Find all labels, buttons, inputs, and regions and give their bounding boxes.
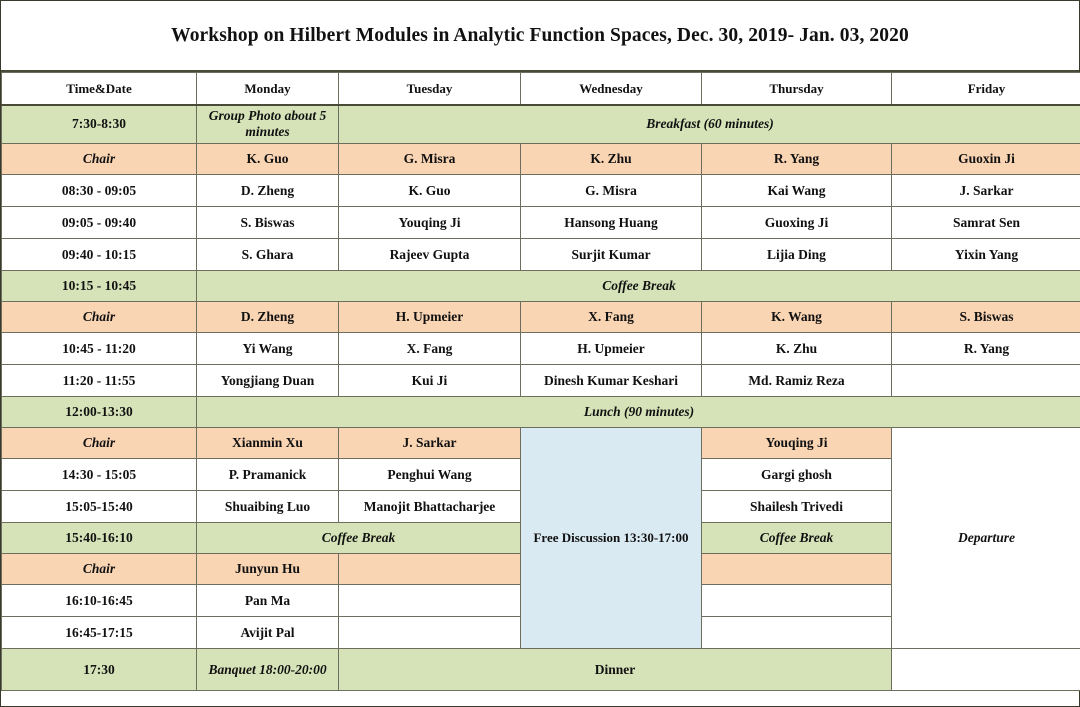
cell-departure: Departure	[892, 428, 1080, 649]
cell-talk2-wednesday: Hansong Huang	[521, 207, 702, 239]
cell-talk7-monday: Shuaibing Luo	[197, 491, 339, 523]
cell-talk8-monday: Pan Ma	[197, 585, 339, 617]
header-time-date: Time&Date	[2, 73, 197, 105]
table-row-lunch: 12:00-13:30 Lunch (90 minutes)	[2, 397, 1080, 428]
cell-coffee-break-2-span: Coffee Break	[197, 523, 521, 554]
cell-time-lunch: 12:00-13:30	[2, 397, 197, 428]
cell-chair-label-1: Chair	[2, 144, 197, 175]
cell-talk5-friday	[892, 365, 1080, 397]
header-monday: Monday	[197, 73, 339, 105]
cell-time-break1: 10:15 - 10:45	[2, 271, 197, 302]
cell-time-talk7: 15:05-15:40	[2, 491, 197, 523]
header-thursday: Thursday	[702, 73, 892, 105]
cell-coffee-break-1-span: Coffee Break	[197, 271, 1080, 302]
cell-chair-label-2: Chair	[2, 302, 197, 333]
cell-time-break2: 15:40-16:10	[2, 523, 197, 554]
cell-talk3-friday: Yixin Yang	[892, 239, 1080, 271]
cell-talk4-wednesday: H. Upmeier	[521, 333, 702, 365]
cell-talk2-tuesday: Youqing Ji	[339, 207, 521, 239]
cell-talk1-wednesday: G. Misra	[521, 175, 702, 207]
header-tuesday: Tuesday	[339, 73, 521, 105]
table-row-talk-2: 09:05 - 09:40 S. Biswas Youqing Ji Hanso…	[2, 207, 1080, 239]
cell-time-dinner: 17:30	[2, 649, 197, 691]
cell-chair3-monday: Xianmin Xu	[197, 428, 339, 459]
cell-time-talk5: 11:20 - 11:55	[2, 365, 197, 397]
schedule-table: Time&Date Monday Tuesday Wednesday Thurs…	[1, 72, 1080, 691]
cell-banquet: Banquet 18:00-20:00	[197, 649, 339, 691]
cell-talk5-thursday: Md. Ramiz Reza	[702, 365, 892, 397]
cell-talk3-monday: S. Ghara	[197, 239, 339, 271]
table-row-talk-4: 10:45 - 11:20 Yi Wang X. Fang H. Upmeier…	[2, 333, 1080, 365]
page-title: Workshop on Hilbert Modules in Analytic …	[157, 25, 923, 47]
table-header-row: Time&Date Monday Tuesday Wednesday Thurs…	[2, 73, 1080, 105]
cell-chair-label-3: Chair	[2, 428, 197, 459]
cell-time-talk2: 09:05 - 09:40	[2, 207, 197, 239]
cell-chair4-tuesday	[339, 554, 521, 585]
cell-time-talk3: 09:40 - 10:15	[2, 239, 197, 271]
table-row-chair-3: Chair Xianmin Xu J. Sarkar Free Discussi…	[2, 428, 1080, 459]
cell-talk8-thursday	[702, 585, 892, 617]
cell-chair1-wednesday: K. Zhu	[521, 144, 702, 175]
table-row-talk-3: 09:40 - 10:15 S. Ghara Rajeev Gupta Surj…	[2, 239, 1080, 271]
cell-talk6-tuesday: Penghui Wang	[339, 459, 521, 491]
cell-chair2-wednesday: X. Fang	[521, 302, 702, 333]
cell-talk4-friday: R. Yang	[892, 333, 1080, 365]
header-wednesday: Wednesday	[521, 73, 702, 105]
cell-time-talk8: 16:10-16:45	[2, 585, 197, 617]
cell-talk7-tuesday: Manojit Bhattacharjee	[339, 491, 521, 523]
schedule-sheet: Workshop on Hilbert Modules in Analytic …	[0, 0, 1080, 707]
cell-talk2-monday: S. Biswas	[197, 207, 339, 239]
table-row-coffee-break-1: 10:15 - 10:45 Coffee Break	[2, 271, 1080, 302]
cell-breakfast-span: Breakfast (60 minutes)	[339, 105, 1080, 144]
cell-lunch-span: Lunch (90 minutes)	[197, 397, 1080, 428]
cell-talk1-thursday: Kai Wang	[702, 175, 892, 207]
cell-chair3-tuesday: J. Sarkar	[339, 428, 521, 459]
table-row-breakfast: 7:30-8:30 Group Photo about 5 minutes Br…	[2, 105, 1080, 144]
cell-dinner-friday	[892, 649, 1080, 691]
cell-talk8-tuesday	[339, 585, 521, 617]
table-row-talk-1: 08:30 - 09:05 D. Zheng K. Guo G. Misra K…	[2, 175, 1080, 207]
cell-chair3-thursday: Youqing Ji	[702, 428, 892, 459]
table-row-talk-5: 11:20 - 11:55 Yongjiang Duan Kui Ji Dine…	[2, 365, 1080, 397]
cell-free-discussion: Free Discussion 13:30-17:00	[521, 428, 702, 649]
cell-chair2-friday: S. Biswas	[892, 302, 1080, 333]
cell-talk1-friday: J. Sarkar	[892, 175, 1080, 207]
cell-chair1-tuesday: G. Misra	[339, 144, 521, 175]
header-friday: Friday	[892, 73, 1080, 105]
cell-group-photo: Group Photo about 5 minutes	[197, 105, 339, 144]
cell-talk6-monday: P. Pramanick	[197, 459, 339, 491]
cell-chair1-friday: Guoxin Ji	[892, 144, 1080, 175]
cell-chair2-tuesday: H. Upmeier	[339, 302, 521, 333]
cell-coffee-break-2-thursday: Coffee Break	[702, 523, 892, 554]
cell-talk3-tuesday: Rajeev Gupta	[339, 239, 521, 271]
cell-talk1-monday: D. Zheng	[197, 175, 339, 207]
cell-dinner-span: Dinner	[339, 649, 892, 691]
cell-talk9-tuesday	[339, 617, 521, 649]
cell-talk4-monday: Yi Wang	[197, 333, 339, 365]
cell-time-talk1: 08:30 - 09:05	[2, 175, 197, 207]
cell-talk3-thursday: Lijia Ding	[702, 239, 892, 271]
table-row-chair-1: Chair K. Guo G. Misra K. Zhu R. Yang Guo…	[2, 144, 1080, 175]
cell-talk5-monday: Yongjiang Duan	[197, 365, 339, 397]
cell-talk2-thursday: Guoxing Ji	[702, 207, 892, 239]
cell-talk6-thursday: Gargi ghosh	[702, 459, 892, 491]
cell-talk4-tuesday: X. Fang	[339, 333, 521, 365]
cell-time-breakfast: 7:30-8:30	[2, 105, 197, 144]
cell-talk9-monday: Avijit Pal	[197, 617, 339, 649]
cell-talk2-friday: Samrat Sen	[892, 207, 1080, 239]
cell-chair2-monday: D. Zheng	[197, 302, 339, 333]
cell-chair4-monday: Junyun Hu	[197, 554, 339, 585]
table-row-dinner: 17:30 Banquet 18:00-20:00 Dinner	[2, 649, 1080, 691]
cell-talk7-thursday: Shailesh Trivedi	[702, 491, 892, 523]
cell-talk3-wednesday: Surjit Kumar	[521, 239, 702, 271]
cell-chair2-thursday: K. Wang	[702, 302, 892, 333]
cell-talk5-wednesday: Dinesh Kumar Keshari	[521, 365, 702, 397]
cell-chair-label-4: Chair	[2, 554, 197, 585]
cell-chair1-monday: K. Guo	[197, 144, 339, 175]
cell-chair4-thursday	[702, 554, 892, 585]
table-row-chair-2: Chair D. Zheng H. Upmeier X. Fang K. Wan…	[2, 302, 1080, 333]
cell-talk4-thursday: K. Zhu	[702, 333, 892, 365]
cell-talk5-tuesday: Kui Ji	[339, 365, 521, 397]
cell-time-talk6: 14:30 - 15:05	[2, 459, 197, 491]
cell-time-talk4: 10:45 - 11:20	[2, 333, 197, 365]
cell-chair1-thursday: R. Yang	[702, 144, 892, 175]
cell-talk9-thursday	[702, 617, 892, 649]
cell-talk1-tuesday: K. Guo	[339, 175, 521, 207]
title-bar: Workshop on Hilbert Modules in Analytic …	[1, 1, 1079, 72]
cell-time-talk9: 16:45-17:15	[2, 617, 197, 649]
